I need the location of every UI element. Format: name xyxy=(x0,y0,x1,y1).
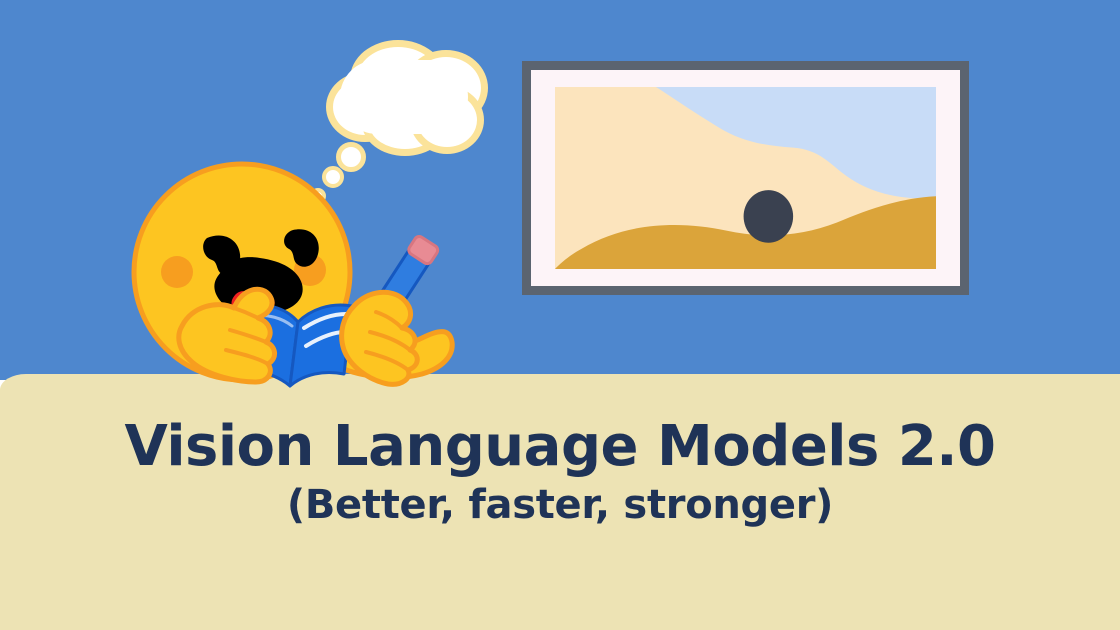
thought-bubble-interior xyxy=(340,60,468,134)
title-block: Vision Language Models 2.0 (Better, fast… xyxy=(0,418,1120,527)
emoji-blush-left xyxy=(161,256,193,288)
framed-landscape-picture xyxy=(522,61,969,295)
picture-artwork xyxy=(555,87,936,269)
reading-smiley-emoji xyxy=(130,160,470,400)
page-title: Vision Language Models 2.0 xyxy=(0,418,1120,477)
picture-mat xyxy=(531,70,960,286)
artwork-sun xyxy=(744,190,794,243)
page-subtitle: (Better, faster, stronger) xyxy=(0,483,1120,527)
slide-canvas: Vision Language Models 2.0 (Better, fast… xyxy=(0,0,1120,630)
